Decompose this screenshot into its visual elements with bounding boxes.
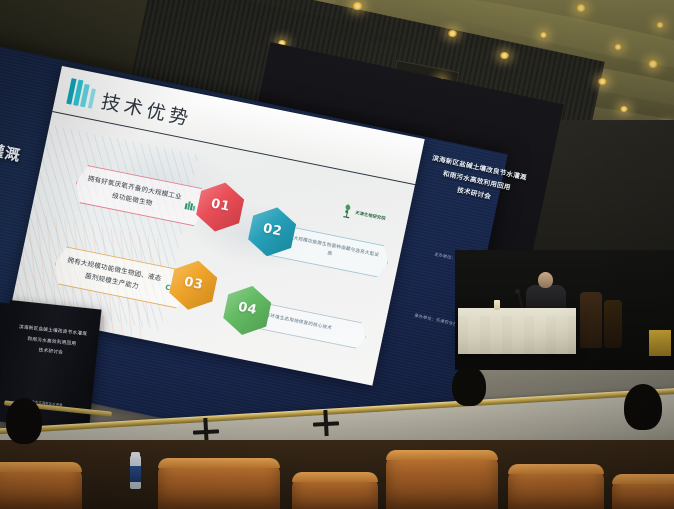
bar-accent-icon bbox=[66, 78, 97, 109]
audience-seat bbox=[0, 462, 82, 509]
ceiling-light bbox=[648, 60, 658, 68]
table-skirt bbox=[458, 316, 576, 354]
stage-chair bbox=[604, 300, 622, 348]
audience-seat bbox=[386, 450, 498, 509]
audience-seat bbox=[292, 472, 378, 509]
ceiling-light bbox=[620, 106, 628, 112]
ceiling-light bbox=[614, 44, 622, 50]
seat-headrest bbox=[386, 450, 498, 460]
seat-headrest bbox=[508, 464, 604, 474]
seat-headrest bbox=[0, 462, 82, 472]
audience-seat bbox=[158, 458, 280, 509]
audience-seat bbox=[508, 464, 604, 509]
ceiling-light bbox=[576, 4, 586, 12]
seat-headrest bbox=[158, 458, 280, 468]
audience-head bbox=[452, 366, 486, 406]
ceiling-light bbox=[656, 22, 664, 28]
seat-headrest bbox=[292, 472, 378, 482]
ceiling-light bbox=[540, 32, 547, 38]
ceiling-light bbox=[598, 78, 607, 85]
auditorium-photo: 良节水灌溉 回用 主办单位：滨海新区水务局 承办单位：天津资源环境研究院 滨海新… bbox=[0, 0, 674, 509]
ceiling-light bbox=[352, 2, 363, 10]
speaker-head bbox=[538, 272, 553, 288]
audience-seat bbox=[612, 474, 674, 509]
bar-chart-icon bbox=[184, 199, 197, 212]
water-cup bbox=[494, 300, 500, 310]
hexagon-02-number: 02 bbox=[262, 221, 284, 239]
stage-chair bbox=[580, 292, 602, 348]
water-bottle-label bbox=[130, 466, 141, 482]
audience-area bbox=[0, 440, 674, 509]
plant-logo-icon bbox=[341, 202, 355, 219]
slide-text-box-04-label: 拥有环境生态用地修复的核心技术 bbox=[260, 311, 333, 334]
slide-logo: 天津生物研究院 bbox=[341, 202, 387, 225]
seat-headrest bbox=[612, 474, 674, 484]
ceiling-light bbox=[500, 52, 509, 59]
microphone-icon bbox=[515, 289, 520, 294]
audience-head bbox=[624, 384, 662, 430]
hexagon-01-number: 01 bbox=[210, 196, 232, 214]
hexagon-04-number: 04 bbox=[237, 299, 259, 317]
podium-title: 滨海新区盐碱土壤改良节水灌溉 和雨污水高效利用回用 技术研讨会 bbox=[10, 323, 93, 363]
hexagon-03-number: 03 bbox=[183, 274, 205, 292]
stage-equipment-box bbox=[649, 330, 671, 356]
slide-logo-text: 天津生物研究院 bbox=[355, 210, 386, 221]
water-bottle-cap bbox=[131, 452, 140, 457]
audience-head bbox=[6, 398, 42, 444]
ceiling-light bbox=[448, 30, 457, 37]
